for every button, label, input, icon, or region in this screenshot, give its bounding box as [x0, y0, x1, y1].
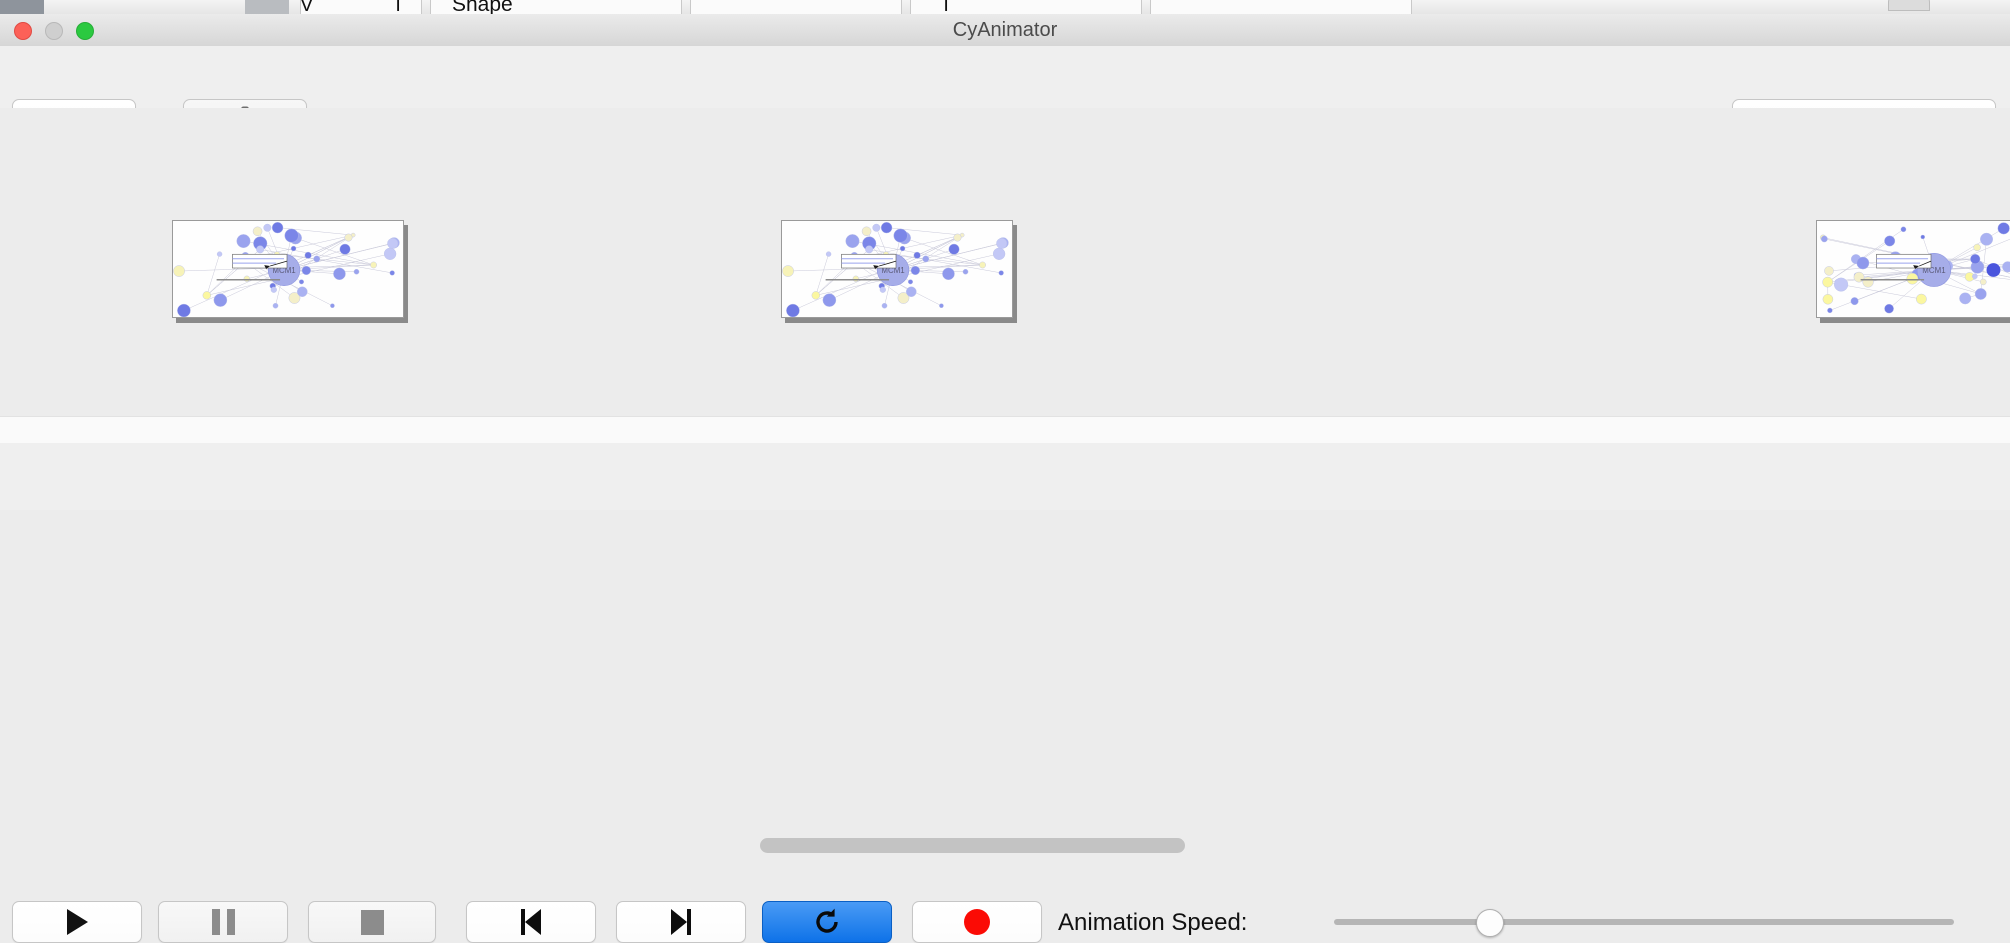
- timeline-scrollbar-thumb[interactable]: [760, 838, 1185, 853]
- play-button[interactable]: [12, 901, 142, 943]
- timeline-frame-thumbnail[interactable]: MCM1: [172, 220, 404, 318]
- window-title: CyAnimator: [0, 14, 2010, 46]
- pause-icon: [212, 909, 235, 935]
- pause-button[interactable]: [158, 901, 288, 943]
- bg-window-tab: [1888, 0, 1930, 11]
- frame-network-image: MCM1: [781, 220, 1013, 318]
- playback-bar: Animation Speed:: [0, 443, 2010, 510]
- stop-button[interactable]: [308, 901, 436, 943]
- loop-icon: [812, 907, 842, 937]
- cyanimator-window: V T T Shape CyAnimator + Clear All Frame…: [0, 0, 2010, 510]
- skip-back-button[interactable]: [466, 901, 596, 943]
- timeline-scrollbar-track[interactable]: [0, 416, 2010, 444]
- toolbar: + Clear All Frames: [0, 46, 2010, 109]
- skip-back-icon: [521, 909, 541, 935]
- frame-network-image: MCM1: [172, 220, 404, 318]
- bg-window-segment: [690, 0, 902, 14]
- background-window-strip: V T T Shape: [0, 0, 2010, 14]
- timeline-panel[interactable]: MCM1MCM1MCM1 12131415161718 Seconds: [0, 108, 2010, 424]
- timeline-frame-thumbnail[interactable]: MCM1: [1816, 220, 2010, 318]
- bg-window-dark-block-2: [245, 0, 289, 14]
- loop-button[interactable]: [762, 901, 892, 943]
- timeline-frame-thumbnail[interactable]: MCM1: [781, 220, 1013, 318]
- record-button[interactable]: [912, 901, 1042, 943]
- animation-speed-label: Animation Speed:: [1058, 909, 1247, 937]
- bg-window-segment: [1150, 0, 1412, 14]
- bg-window-shape-label: Shape: [452, 0, 513, 14]
- frame-network-image: MCM1: [1816, 220, 2010, 318]
- record-icon: [964, 909, 990, 935]
- animation-speed-slider-thumb[interactable]: [1476, 909, 1504, 937]
- bg-window-dark-block: [0, 0, 44, 14]
- skip-forward-icon: [671, 909, 691, 935]
- animation-speed-slider[interactable]: [1334, 919, 1954, 925]
- skip-forward-button[interactable]: [616, 901, 746, 943]
- title-bar: CyAnimator: [0, 14, 2010, 47]
- stop-icon: [361, 910, 384, 935]
- play-icon: [67, 909, 88, 935]
